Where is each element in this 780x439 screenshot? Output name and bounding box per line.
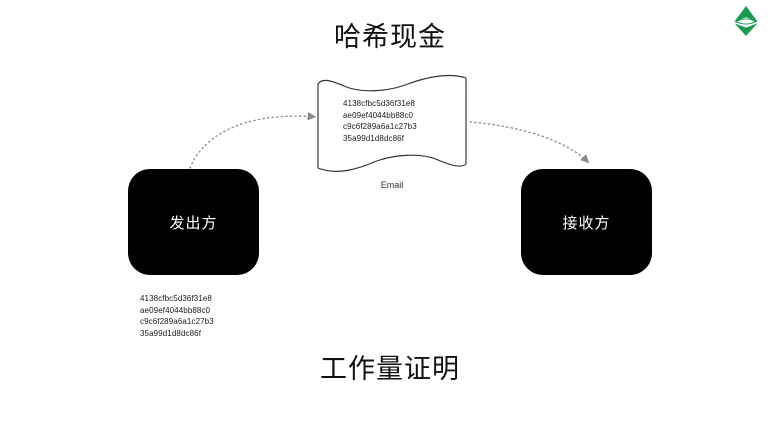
email-hash-text: 4138cfbc5d36f31e8 ae09ef4044bb88c0 c9c6f… [343, 98, 417, 144]
arrow-sender-to-email [190, 116, 316, 168]
actor-sender-label: 发出方 [169, 212, 217, 233]
actor-sender-box[interactable]: 发出方 [128, 169, 259, 275]
slide-canvas: 哈希现金 4138cfbc5d36f31e8 ae09ef4044bb88c0 … [0, 0, 780, 439]
proof-of-work-hash-text: 4138cfbc5d36f31e8 ae09ef4044bb88c0 c9c6f… [140, 293, 214, 339]
actor-receiver-box[interactable]: 接收方 [521, 169, 652, 275]
email-caption-label: Email [316, 180, 468, 190]
page-title-bottom: 工作量证明 [0, 352, 780, 386]
page-title-top: 哈希现金 [0, 20, 780, 54]
actor-receiver-label: 接收方 [562, 212, 610, 233]
email-document: 4138cfbc5d36f31e8 ae09ef4044bb88c0 c9c6f… [316, 72, 468, 176]
arrow-email-to-receiver [470, 122, 589, 163]
